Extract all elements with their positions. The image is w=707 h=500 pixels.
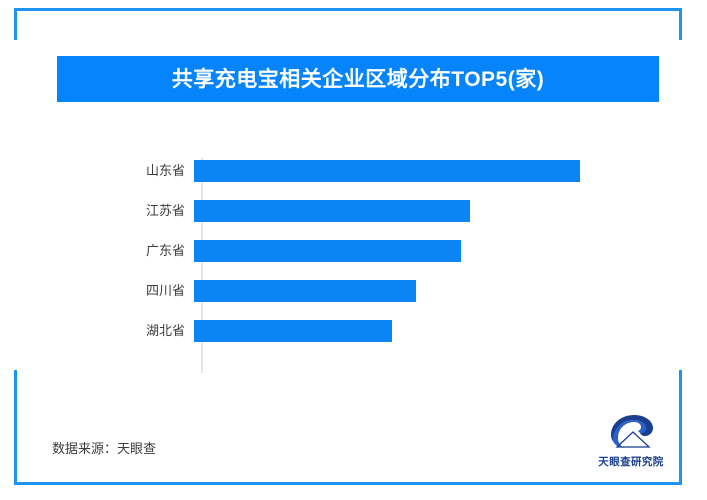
tianyancha-swoosh-logo-icon — [607, 414, 655, 452]
bar-row: 广东省 — [120, 240, 580, 262]
brand-logo: 天眼查研究院 — [588, 414, 674, 476]
bar-category-label: 四川省 — [120, 280, 194, 302]
data-source-label: 数据来源：天眼查 — [52, 438, 156, 457]
frame-gap-right — [678, 40, 686, 370]
bar-row: 四川省 — [120, 280, 580, 302]
bar-fill — [194, 160, 580, 182]
bar-fill — [194, 240, 461, 262]
bar-row-list: 山东省江苏省广东省四川省湖北省 — [120, 152, 580, 372]
bar-row: 山东省 — [120, 160, 580, 182]
bar-category-label: 山东省 — [120, 160, 194, 182]
bar-track — [194, 160, 580, 182]
infographic-canvas: 共享充电宝相关企业区域分布TOP5(家) 山东省江苏省广东省四川省湖北省 数据来… — [0, 0, 707, 500]
bar-chart: 山东省江苏省广东省四川省湖北省 — [120, 152, 580, 372]
bar-category-label: 广东省 — [120, 240, 194, 262]
bar-category-label: 江苏省 — [120, 200, 194, 222]
bar-category-label: 湖北省 — [120, 320, 194, 342]
bar-track — [194, 320, 580, 342]
bar-row: 湖北省 — [120, 320, 580, 342]
bar-fill — [194, 200, 470, 222]
brand-logo-text: 天眼查研究院 — [598, 454, 663, 469]
bar-fill — [194, 320, 392, 342]
bar-track — [194, 200, 580, 222]
title-banner: 共享充电宝相关企业区域分布TOP5(家) — [57, 56, 659, 102]
frame-gap-left — [12, 40, 19, 370]
bar-row: 江苏省 — [120, 200, 580, 222]
bar-fill — [194, 280, 416, 302]
bar-track — [194, 280, 580, 302]
bar-track — [194, 240, 580, 262]
page-title: 共享充电宝相关企业区域分布TOP5(家) — [172, 69, 544, 90]
